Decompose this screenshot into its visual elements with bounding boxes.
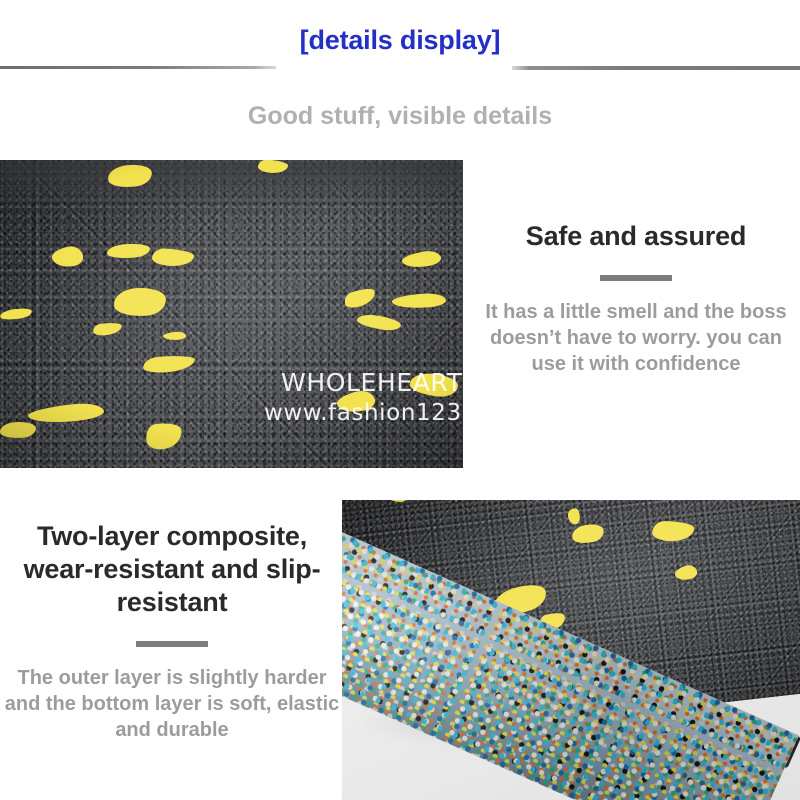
feature-divider — [136, 641, 208, 647]
feature-body: The outer layer is slightly harder and t… — [2, 665, 342, 743]
page-subtitle: Good stuff, visible details — [0, 100, 800, 132]
photo-two-layer-mat-corner — [342, 500, 800, 800]
feature-title: Two-layer composite, wear-resistant and … — [2, 520, 342, 619]
header-rule-left — [0, 66, 276, 69]
feature-divider — [600, 275, 672, 281]
watermark-brand: WHOLEHEART — [281, 368, 462, 397]
feature-block-two-layer-composite: Two-layer composite, wear-resistant and … — [2, 520, 342, 743]
product-detail-page: [details display] Good stuff, visible de… — [0, 0, 800, 800]
feature-block-safe-and-assured: Safe and assured It has a little smell a… — [474, 220, 798, 377]
feature-title: Safe and assured — [474, 220, 798, 253]
page-title: [details display] — [0, 22, 800, 58]
watermark-url: www.fashion123g — [264, 400, 477, 426]
feature-body: It has a little smell and the boss doesn… — [474, 299, 798, 377]
mat-assembly — [342, 500, 800, 800]
header-rule-right — [512, 66, 800, 70]
